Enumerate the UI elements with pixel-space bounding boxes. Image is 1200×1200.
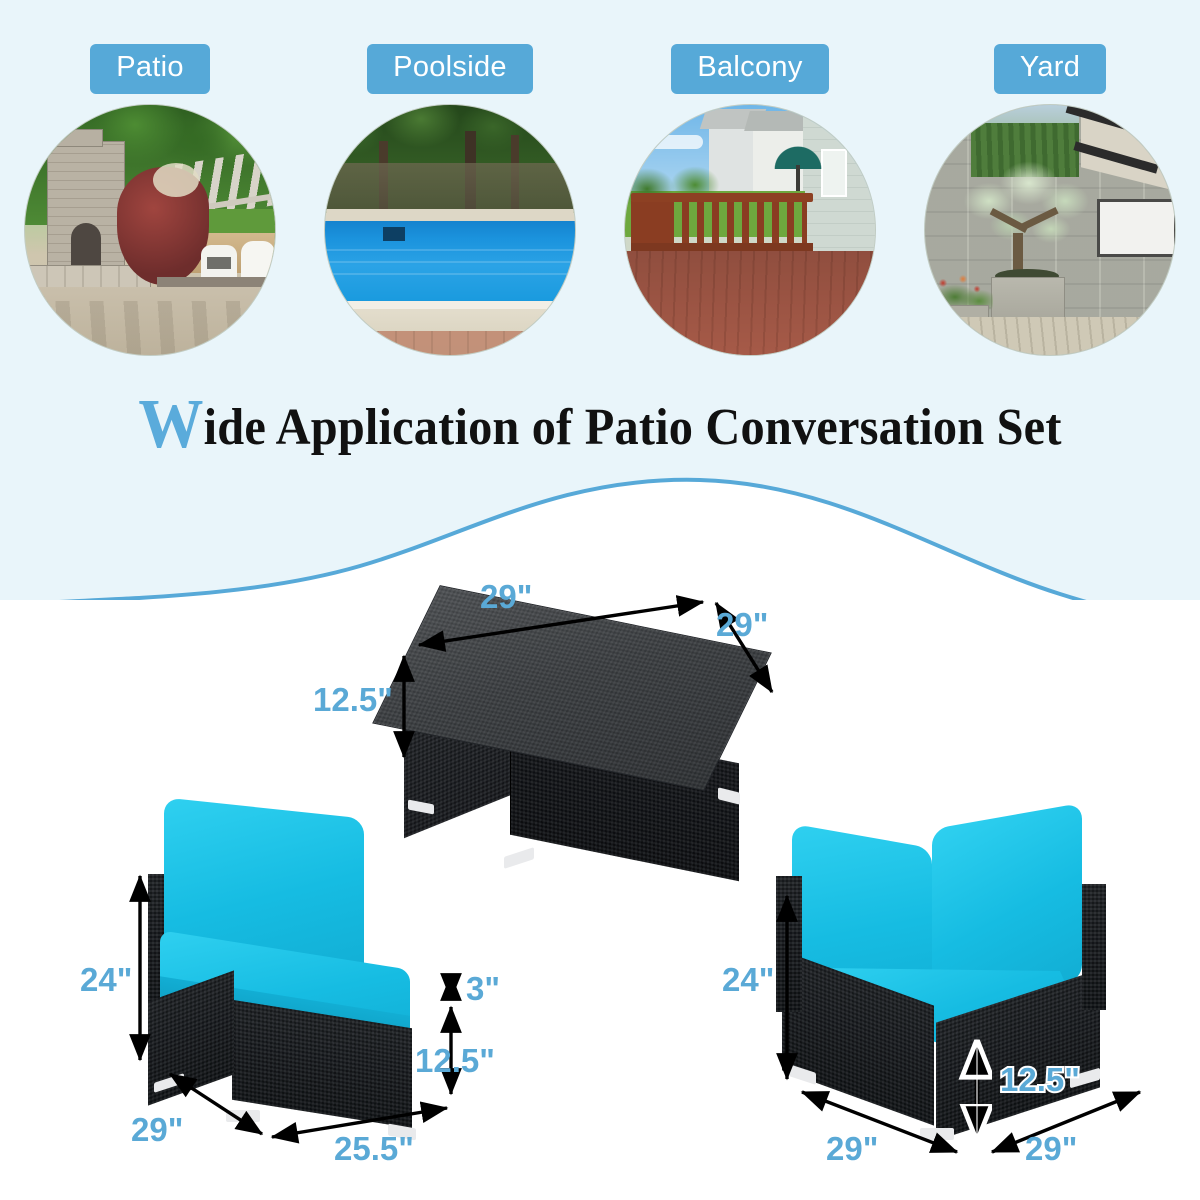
scene-photo-patio (25, 105, 275, 355)
dim-table-height: 12.5" (313, 683, 393, 716)
title-rest: ide Application of Patio Conversation Se… (204, 399, 1062, 456)
scene-yard: Yard (915, 44, 1185, 355)
dim-chair-width: 25.5" (334, 1132, 414, 1165)
dim-corner-left-width: 29" (826, 1132, 878, 1165)
product-corner-chair (770, 800, 1170, 1180)
scene-label-yard: Yard (994, 44, 1106, 94)
dim-chair-seat-height: 12.5" (415, 1044, 495, 1077)
scene-balcony: Balcony (615, 44, 885, 355)
scene-patio: Patio (15, 44, 285, 355)
dim-corner-right-width: 29" (1025, 1132, 1077, 1165)
scene-photo-yard (925, 105, 1175, 355)
scene-label-patio: Patio (90, 44, 210, 94)
dim-chair-total-height: 24" (80, 963, 132, 996)
dim-corner-seat-height: 12.5" (1000, 1063, 1080, 1096)
dim-table-width: 29" (480, 580, 532, 613)
page-title: Wide Application of Patio Conversation S… (42, 398, 1158, 457)
title-drop-cap: W (138, 386, 203, 463)
dim-corner-total-height: 24" (722, 963, 774, 996)
scene-label-poolside: Poolside (367, 44, 533, 94)
dim-table-depth: 29" (716, 608, 768, 641)
scene-photo-poolside (325, 105, 575, 355)
scene-row: Patio Poolside (0, 44, 1200, 374)
scene-photo-balcony (625, 105, 875, 355)
infographic-canvas: Patio Poolside (0, 0, 1200, 1200)
scene-poolside: Poolside (315, 44, 585, 355)
dim-chair-cushion-height: 3" (466, 972, 500, 1005)
dim-chair-depth: 29" (131, 1113, 183, 1146)
scene-label-balcony: Balcony (671, 44, 828, 94)
